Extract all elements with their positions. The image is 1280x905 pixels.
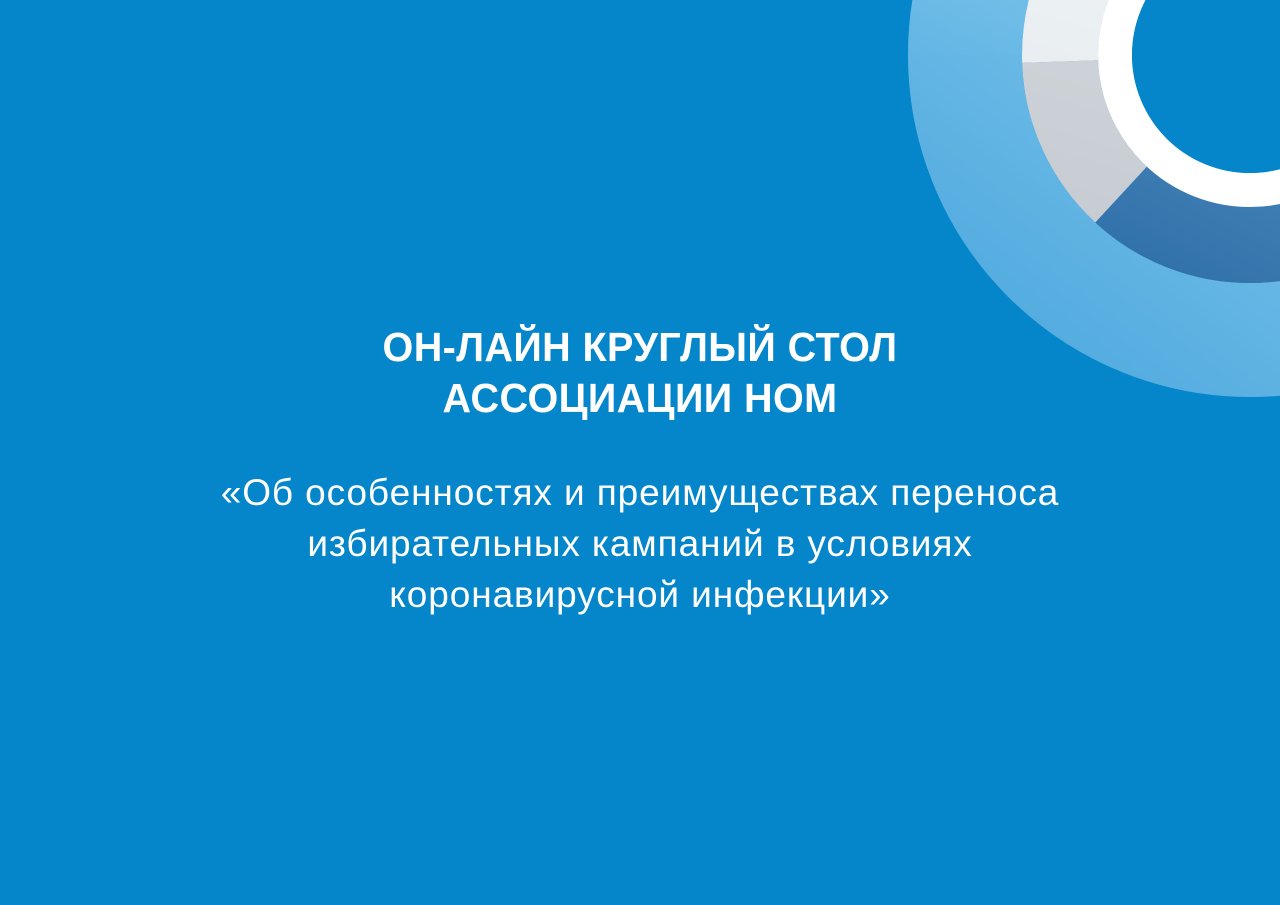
subtitle-line-2: избирательных кампаний в условиях: [135, 518, 1145, 569]
subtitle-line-1: «Об особенностях и преимуществах перенос…: [135, 467, 1145, 518]
title-line-1: ОН-ЛАЙН КРУГЛЫЙ СТОЛ: [273, 322, 1006, 373]
slide-subtitle: «Об особенностях и преимуществах перенос…: [135, 467, 1145, 620]
title-line-2: АССОЦИАЦИИ НОМ: [273, 373, 1006, 424]
presentation-slide: ОН-ЛАЙН КРУГЛЫЙ СТОЛ АССОЦИАЦИИ НОМ «Об …: [0, 0, 1280, 905]
slide-title: ОН-ЛАЙН КРУГЛЫЙ СТОЛ АССОЦИАЦИИ НОМ: [260, 322, 1020, 424]
subtitle-line-3: коронавирусной инфекции»: [135, 569, 1145, 620]
slide-content: ОН-ЛАЙН КРУГЛЫЙ СТОЛ АССОЦИАЦИИ НОМ «Об …: [0, 0, 1280, 905]
